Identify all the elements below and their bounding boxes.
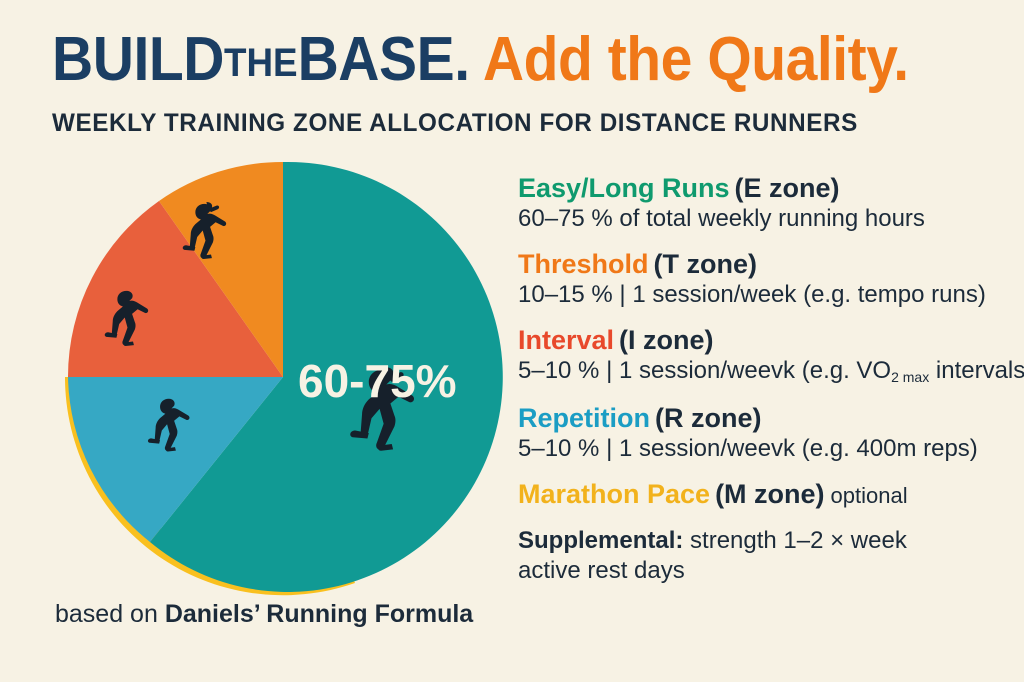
pie-chart: 60-75% [58,152,508,602]
legend-code-interval: (I zone) [619,325,714,355]
legend-detail-interval-sub: 2 max [891,369,929,385]
legend-name-repetition: Repetition [518,403,650,433]
pie-chart-svg: 60-75% [58,152,508,602]
legend-detail-threshold: 10–15 % | 1 session/week (e.g. tempo run… [518,280,1008,310]
legend-code-easy-long-runs: (E zone) [735,173,840,203]
supplemental-label: Supplemental: [518,527,683,554]
legend-entry-easy-long-runs[interactable]: Easy/Long Runs(E zone) 60–75 % of total … [518,172,1008,234]
legend-code-threshold: (T zone) [654,249,757,279]
legend-entry-interval[interactable]: Interval(I zone) 5–10 % | 1 session/weev… [518,324,1008,388]
legend-head-threshold: Threshold(T zone) [518,248,1008,280]
page-subtitle: WEEKLY TRAINING ZONE ALLOCATION FOR DIST… [52,109,964,138]
title-base: BASE. [298,25,470,94]
legend-detail-easy-long-runs: 60–75 % of total weekly running hours [518,204,1008,234]
chart-caption: based on Daniels’ Running Formula [55,600,473,629]
legend-detail-interval: 5–10 % | 1 session/weevk (e.g. VO2 max i… [518,356,1008,388]
title-the: THE [224,41,298,85]
legend-supplemental: Supplemental: strength 1–2 × week active… [518,526,1008,586]
legend-name-marathon-pace: Marathon Pace [518,479,710,509]
legend-entry-repetition[interactable]: Repetition(R zone) 5–10 % | 1 session/we… [518,402,1008,464]
legend: Easy/Long Runs(E zone) 60–75 % of total … [518,172,1008,586]
header: BUILDTHEBASE. Add the Quality. WEEKLY TR… [52,28,992,138]
legend-name-threshold: Threshold [518,249,649,279]
infographic-page: BUILDTHEBASE. Add the Quality. WEEKLY TR… [0,0,1024,682]
supplemental-line2: active rest days [518,556,1008,586]
legend-entry-marathon-pace[interactable]: Marathon Pace(M zone)optional [518,478,1008,512]
page-title: BUILDTHEBASE. Add the Quality. [52,28,917,99]
legend-detail-interval-pre: 5–10 % | 1 session/weevk (e.g. VO [518,357,891,384]
legend-name-interval: Interval [518,325,614,355]
legend-head-repetition: Repetition(R zone) [518,402,1008,434]
legend-detail-repetition: 5–10 % | 1 session/weevk (e.g. 400m reps… [518,434,1008,464]
caption-prefix: based on [55,600,165,628]
title-add-the-quality: Add the Quality. [483,25,909,94]
legend-head-interval: Interval(I zone) [518,324,1008,356]
pie-center-label: 60-75% [298,355,457,407]
legend-note-marathon-pace: optional [831,483,908,508]
legend-entry-threshold[interactable]: Threshold(T zone) 10–15 % | 1 session/we… [518,248,1008,310]
caption-source: Daniels’ Running Formula [165,600,473,628]
title-build: BUILD [52,25,224,94]
legend-detail-interval-post: intervals) [929,357,1024,384]
legend-code-marathon-pace: (M zone) [715,479,824,509]
legend-name-easy-long-runs: Easy/Long Runs [518,173,730,203]
supplemental-text: strength 1–2 × week [683,527,906,554]
legend-head-easy-long-runs: Easy/Long Runs(E zone) [518,172,1008,204]
legend-head-marathon-pace: Marathon Pace(M zone)optional [518,478,1008,512]
legend-code-repetition: (R zone) [655,403,761,433]
